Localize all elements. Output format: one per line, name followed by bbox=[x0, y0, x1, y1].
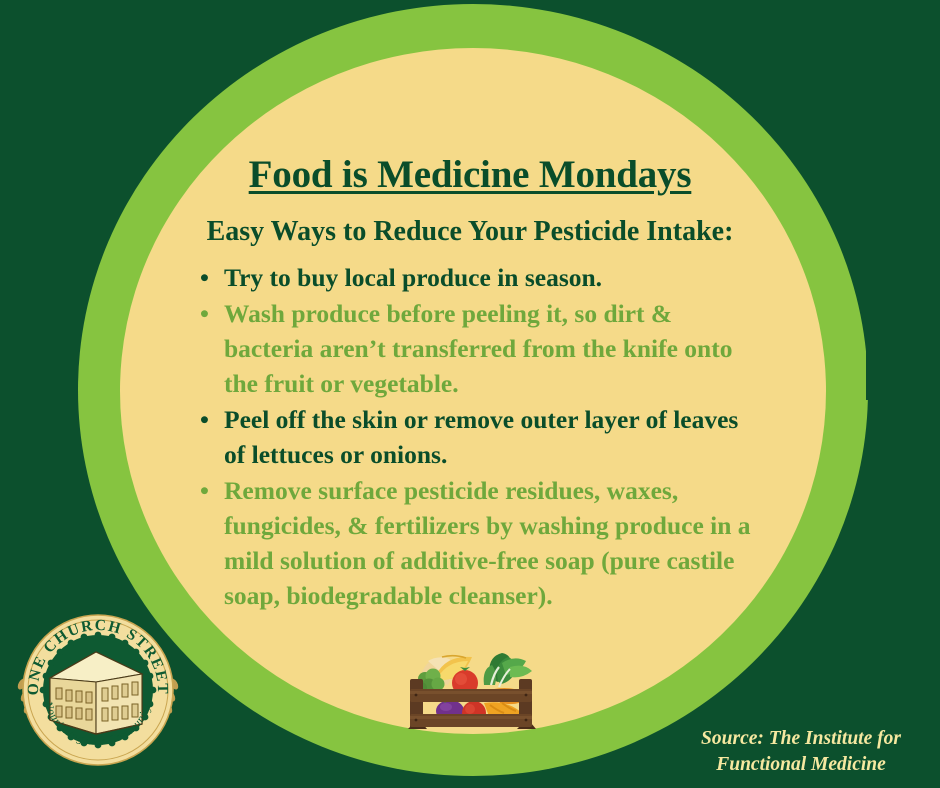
bullet-dot-icon: • bbox=[200, 473, 209, 508]
list-item: • Wash produce before peeling it, so dir… bbox=[188, 296, 758, 401]
list-item: • Remove surface pesticide residues, wax… bbox=[188, 473, 758, 613]
list-item-text: Remove surface pesticide residues, waxes… bbox=[224, 476, 751, 610]
tips-list: • Try to buy local produce in season. • … bbox=[188, 260, 758, 614]
poster-canvas: Food is Medicine Mondays Easy Ways to Re… bbox=[0, 0, 940, 788]
list-item: • Try to buy local produce in season. bbox=[188, 260, 758, 295]
page-title: Food is Medicine Mondays bbox=[0, 152, 940, 197]
bullet-dot-icon: • bbox=[200, 260, 209, 295]
bullet-dot-icon: • bbox=[200, 296, 209, 331]
list-item: • Peel off the skin or remove outer laye… bbox=[188, 402, 758, 472]
produce-crate-icon bbox=[398, 645, 544, 735]
list-item-text: Wash produce before peeling it, so dirt … bbox=[224, 299, 732, 398]
list-item-text: Try to buy local produce in season. bbox=[224, 263, 602, 292]
organization-logo: ONE CHURCH STREET Nourishing Our Communi… bbox=[10, 602, 186, 778]
bullet-dot-icon: • bbox=[200, 402, 209, 437]
page-subtitle: Easy Ways to Reduce Your Pesticide Intak… bbox=[0, 216, 940, 248]
list-item-text: Peel off the skin or remove outer layer … bbox=[224, 405, 738, 469]
source-attribution: Source: The Institute for Functional Med… bbox=[676, 726, 926, 778]
poster-content: Food is Medicine Mondays Easy Ways to Re… bbox=[0, 0, 940, 788]
